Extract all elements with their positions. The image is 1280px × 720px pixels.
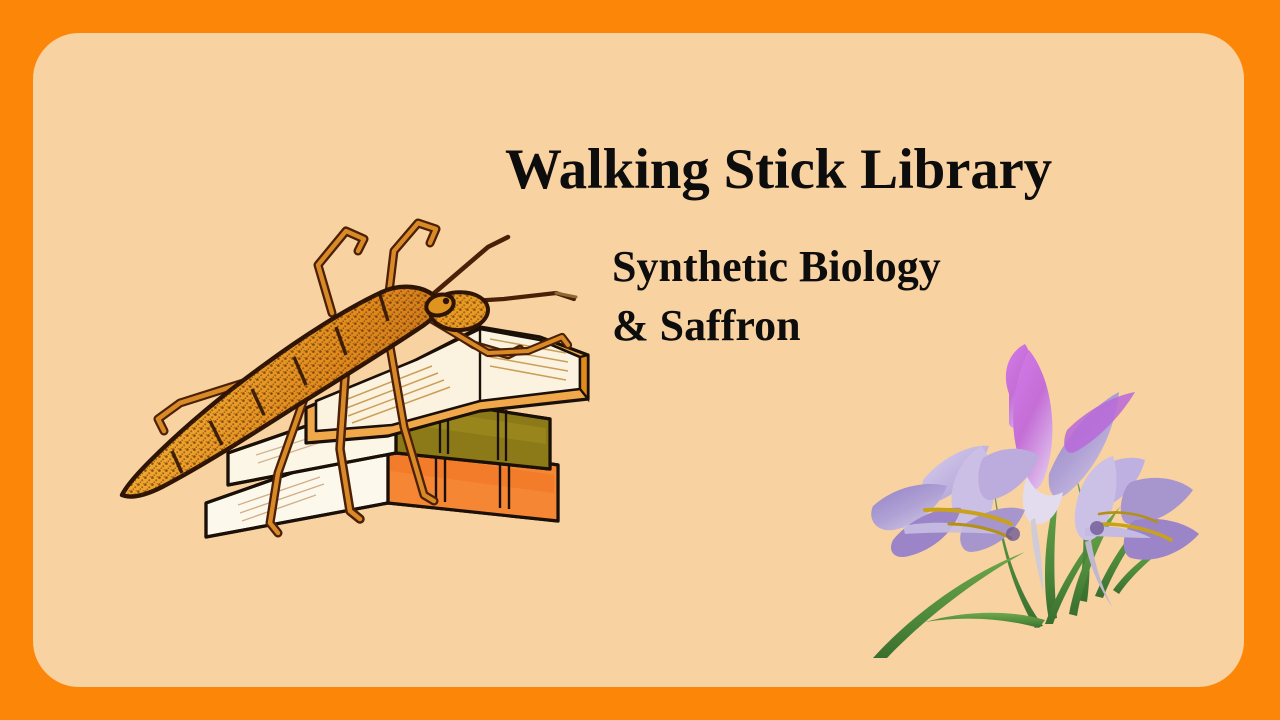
book-stack: [206, 327, 588, 537]
slide-canvas: Walking Stick Library Synthetic Biology …: [0, 0, 1280, 720]
saffron-crocus-illustration: [863, 328, 1213, 658]
page-title: Walking Stick Library: [505, 141, 1052, 198]
subtitle-line-1: Synthetic Biology: [612, 238, 941, 297]
slide-panel: Walking Stick Library Synthetic Biology …: [33, 33, 1244, 687]
crocus-flower-left: [871, 446, 1039, 557]
crocus-flower-right: [1075, 456, 1199, 608]
walking-stick-insect-illustration: [88, 203, 618, 583]
